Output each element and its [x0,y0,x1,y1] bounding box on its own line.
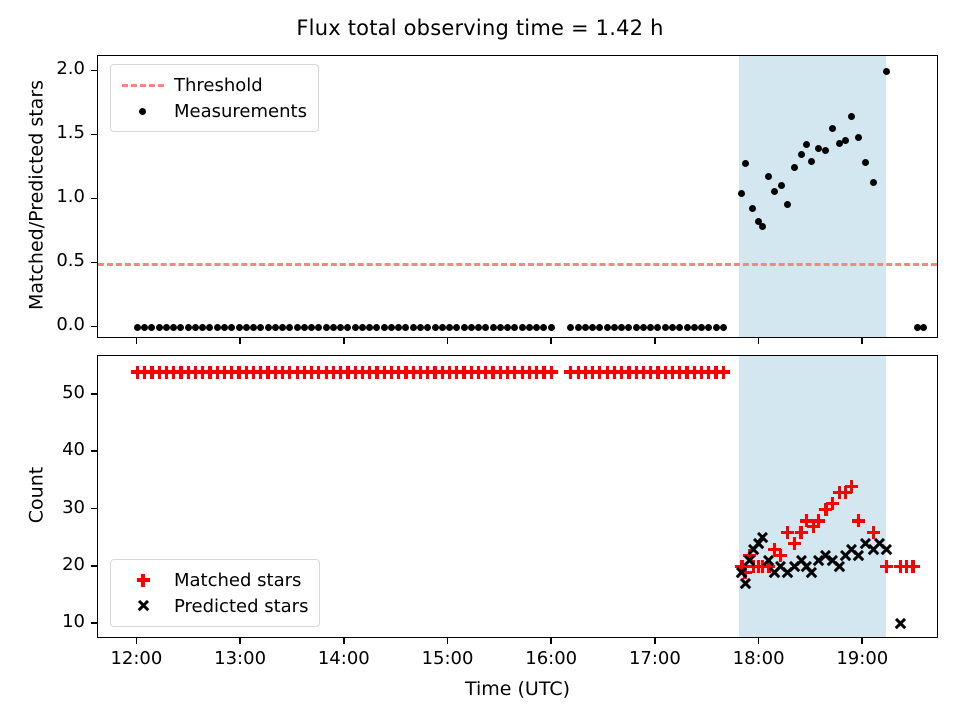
data-point-o [381,324,388,331]
y-tick-label: 2.0 [1,58,85,79]
data-point-o [337,324,344,331]
y-tick-label: 30 [1,497,85,518]
data-point-o [691,324,698,331]
data-point-o [250,324,257,331]
data-point-o [257,324,264,331]
data-point-o [759,223,766,230]
x-tick-label: 15:00 [388,648,508,669]
data-point-o [402,324,409,331]
data-point-o [148,324,155,331]
data-point-o [640,324,647,331]
data-point-o [548,324,555,331]
data-point-o [669,324,676,331]
data-point-o [228,324,235,331]
data-point-o [432,324,439,331]
data-point-o [366,324,373,331]
legend-top: Threshold Measurements [110,64,319,132]
data-point-o [221,324,228,331]
data-point-o [604,324,611,331]
data-point-o [272,324,279,331]
legend-label: Measurements [174,101,307,122]
data-point-o [192,324,199,331]
data-point-o [771,188,778,195]
data-point-o [170,324,177,331]
x-tick-label: 18:00 [699,648,819,669]
data-point-o [611,324,618,331]
data-point-o [883,68,890,75]
data-point-o [647,324,654,331]
y-tick-mark [91,198,97,200]
observing-window-shading [739,56,886,337]
data-point-o [323,324,330,331]
data-point-o [206,324,213,331]
x-tick-mark [550,638,552,644]
data-point-o [294,324,301,331]
y-tick-label: 10 [1,611,85,632]
data-point-o [134,324,141,331]
data-point-o [315,324,322,331]
legend-item-predicted-stars: Predicted stars [120,593,308,619]
y-tick-label: 1.5 [1,122,85,143]
data-point-o [698,324,705,331]
x-tick-mark [758,638,760,644]
data-point-o [862,159,869,166]
legend-bottom: Matched stars Predicted stars [110,559,320,627]
data-point-o [504,324,511,331]
data-point-o [778,182,785,189]
x-tick-mark [239,338,241,344]
data-point-o [236,324,243,331]
y-tick-mark [91,393,97,395]
y-tick-mark [91,508,97,510]
data-point-o [482,324,489,331]
data-point-o [684,324,691,331]
data-point-o [468,324,475,331]
data-point-o [705,324,712,331]
data-point-o [141,324,148,331]
data-point-o [798,151,805,158]
data-point-o [163,324,170,331]
data-point-o [359,324,366,331]
data-point-o [344,324,351,331]
x-tick-mark [550,338,552,344]
data-point-o [439,324,446,331]
data-point-o [424,324,431,331]
y-tick-mark [91,262,97,264]
data-point-o [388,324,395,331]
x-tick-label: 16:00 [491,648,611,669]
y-tick-mark [91,134,97,136]
x-tick-mark [136,338,138,344]
dot-marker-key [120,101,166,121]
data-point-o [713,324,720,331]
x-tick-mark [654,638,656,644]
data-point-o [575,324,582,331]
y-tick-mark [91,565,97,567]
x-tick-label: 14:00 [284,648,404,669]
y-tick-mark [91,70,97,72]
threshold-line [98,263,937,266]
data-point-o [618,324,625,331]
dashed-line-key [120,75,166,95]
page-title: Flux total observing time = 1.42 h [0,16,960,40]
data-point-o [185,324,192,331]
data-point-o [410,324,417,331]
data-point-o [453,324,460,331]
data-point-o [625,324,632,331]
y-tick-label: 50 [1,382,85,403]
data-point-o [567,324,574,331]
y-tick-label: 0.0 [1,314,85,335]
data-point-o [633,324,640,331]
data-point-o [461,324,468,331]
legend-label: Matched stars [174,570,301,591]
data-point-o [742,160,749,167]
legend-item-matched-stars: Matched stars [120,567,308,593]
data-point-o [330,324,337,331]
x-tick-mark [447,338,449,344]
x-tick-label: 12:00 [76,648,196,669]
data-point-o [417,324,424,331]
data-point-o [582,324,589,331]
x-tick-mark [861,638,863,644]
x-tick-label: 13:00 [180,648,300,669]
data-point-o [596,324,603,331]
legend-item-threshold: Threshold [120,72,307,98]
data-point-o [920,324,927,331]
cross-marker-key [120,596,166,616]
data-point-o [373,324,380,331]
data-point-o [286,324,293,331]
x-tick-mark [654,338,656,344]
x-tick-mark [447,638,449,644]
data-point-o [519,324,526,331]
plot-area-flux-ratio: Threshold Measurements [97,55,938,338]
data-point-o [511,324,518,331]
data-point-o [749,205,756,212]
data-point-o [279,324,286,331]
x-tick-mark [343,638,345,644]
data-point-o [497,324,504,331]
y-tick-label: 0.5 [1,250,85,271]
data-point-o [720,324,727,331]
data-point-o [490,324,497,331]
data-point-o [808,158,815,165]
y-tick-mark [91,326,97,328]
data-point-o [533,324,540,331]
data-point-o [265,324,272,331]
data-point-o [301,324,308,331]
y-tick-mark [91,450,97,452]
data-point-o [177,324,184,331]
x-tick-mark [861,338,863,344]
data-point-o [654,324,661,331]
x-axis-label: Time (UTC) [438,678,598,700]
x-tick-label: 19:00 [802,648,922,669]
data-point-o [308,324,315,331]
data-point-o [214,324,221,331]
data-point-o [526,324,533,331]
data-point-o [540,324,547,331]
legend-label: Predicted stars [174,596,308,617]
data-point-o [662,324,669,331]
y-tick-mark [91,622,97,624]
data-point-o [156,324,163,331]
data-point-o [446,324,453,331]
data-point-o [676,324,683,331]
y-tick-label: 20 [1,554,85,575]
legend-item-measurements: Measurements [120,98,307,124]
figure: Flux total observing time = 1.42 h Match… [0,0,960,720]
x-tick-mark [758,338,760,344]
legend-label: Threshold [174,75,263,96]
data-point-o [243,324,250,331]
data-point-o [589,324,596,331]
plus-marker-key [120,570,166,590]
x-tick-mark [343,338,345,344]
data-point-o [475,324,482,331]
data-point-o [815,145,822,152]
data-point-o [395,324,402,331]
observing-window-shading [739,356,886,637]
data-point-o [352,324,359,331]
y-tick-label: 1.0 [1,186,85,207]
x-tick-mark [136,638,138,644]
x-tick-mark [239,638,241,644]
data-point-o [803,141,810,148]
y-tick-label: 40 [1,439,85,460]
data-point-o [199,324,206,331]
x-tick-label: 17:00 [595,648,715,669]
plot-area-star-counts: Matched stars Predicted stars [97,355,938,638]
